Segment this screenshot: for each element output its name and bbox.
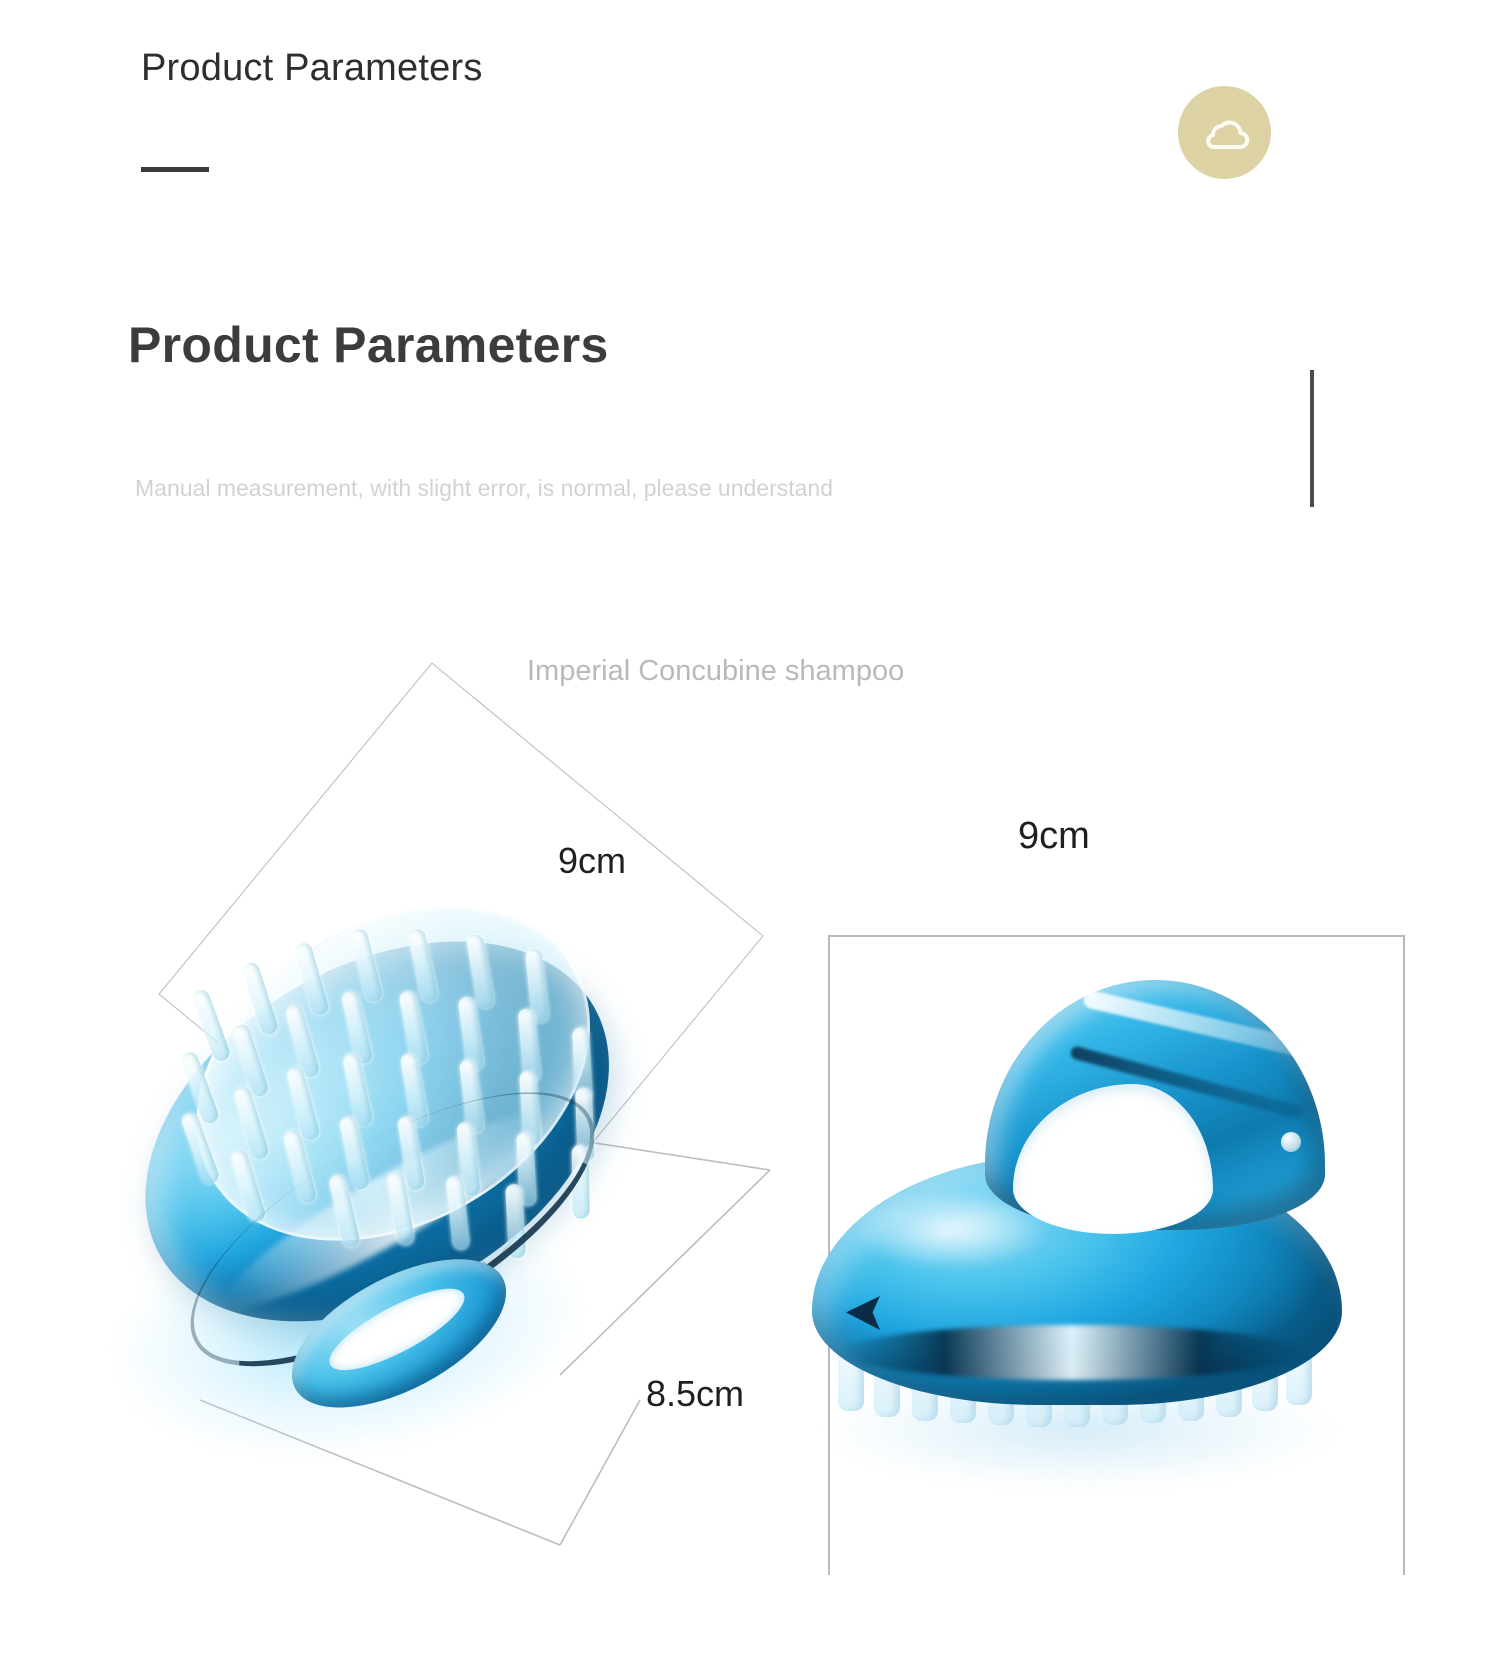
left-depth-dimension-label: 8.5cm	[646, 1373, 744, 1415]
product-name-label: Imperial Concubine shampoo	[527, 655, 907, 688]
left-width-dimension-label: 9cm	[558, 840, 626, 882]
cloud-icon	[1198, 113, 1252, 153]
cloud-badge	[1178, 86, 1271, 179]
right-accent-bar	[1310, 370, 1314, 507]
page-title: Product Parameters	[128, 316, 609, 374]
right-handle-pin	[1281, 1132, 1301, 1152]
right-width-dimension-label: 9cm	[1018, 815, 1090, 858]
product-image-angled-view	[77, 869, 704, 1462]
product-image-side-view	[790, 900, 1410, 1520]
product-dimension-stage: 9cm 8.5cm 9cm	[0, 700, 1500, 1664]
header-eyebrow-title: Product Parameters	[141, 47, 483, 90]
header-divider-dash	[141, 167, 209, 172]
right-brush-arch-handle	[985, 980, 1325, 1230]
measurement-note: Manual measurement, with slight error, i…	[135, 474, 905, 502]
